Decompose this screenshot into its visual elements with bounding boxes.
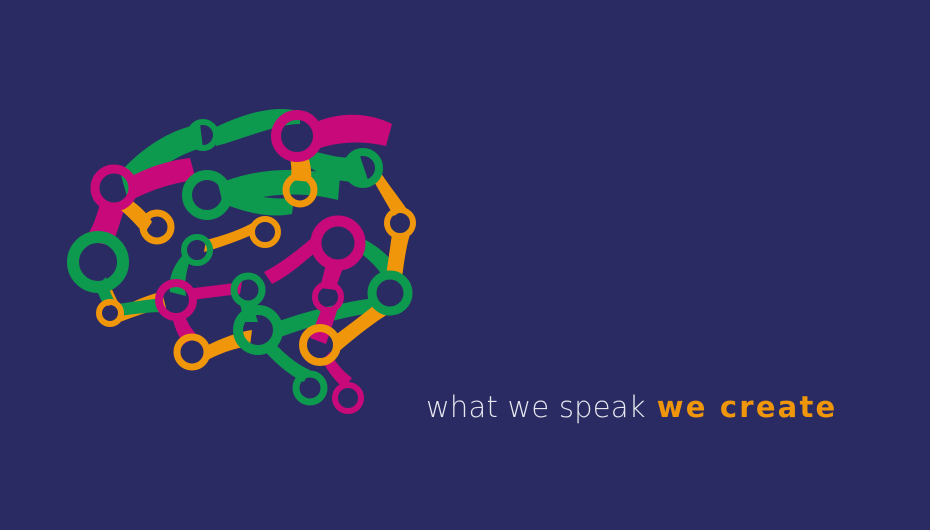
node-magenta-n22: [335, 385, 361, 411]
tagline-light-text: what we speak: [426, 390, 646, 424]
node-orange-n20: [177, 337, 207, 367]
node-orange-n17: [99, 302, 121, 324]
node-green-n11: [73, 237, 123, 287]
tagline: what we speak we create: [426, 390, 837, 430]
node-orange-n8: [387, 210, 413, 236]
logo-nodes: [73, 115, 413, 411]
splash-canvas: what we speak we create: [0, 0, 930, 530]
node-green-n18: [238, 310, 278, 350]
node-orange-n9: [252, 219, 278, 245]
node-green-n21: [296, 374, 324, 402]
link-magenta-top: [314, 115, 392, 150]
node-magenta-n10: [316, 221, 360, 265]
tagline-accent-text: we create: [657, 390, 838, 424]
node-green-n15: [372, 275, 408, 311]
brain-network-logo: [55, 95, 435, 425]
